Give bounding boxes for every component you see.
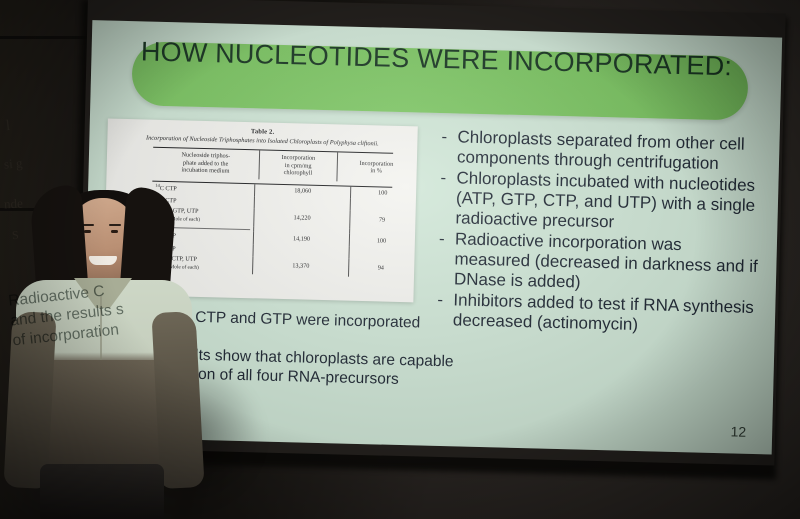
bullet-text: Inhibitors added to test if RNA synthesi… [453, 291, 760, 339]
table-header-row: Nucleoside triphos- phate added to the i… [152, 148, 415, 184]
row-value: 13,370 [253, 256, 350, 277]
arm-right [151, 311, 204, 489]
bullet-item: - Inhibitors added to test if RNA synthe… [437, 290, 760, 338]
col-header-nucleoside: Nucleoside triphos- phate added to the i… [152, 148, 259, 180]
legs [40, 464, 164, 519]
bullet-item: - Radioactive incorporation was measured… [438, 229, 761, 297]
row-value: 14,220 [254, 209, 351, 230]
row-percent: 79 [350, 211, 414, 231]
presenter: Radioactive C and the results s of incor… [14, 184, 200, 519]
slide-bullet-list: - Chloroplasts separated from other cell… [437, 127, 764, 340]
bullet-text: Radioactive incorporation was measured (… [454, 230, 761, 298]
eyebrow-right [109, 224, 121, 226]
col-header-percent: Incorporation in % [337, 152, 415, 183]
bullet-dash-icon: - [439, 168, 457, 229]
eye-left [84, 230, 91, 233]
bullet-text: Chloroplasts incubated with nucleotides … [455, 168, 762, 236]
bullet-item: - Chloroplasts separated from other cell… [441, 127, 764, 175]
row-percent: 94 [349, 258, 413, 278]
bullet-text: Chloroplasts separated from other cell c… [457, 127, 764, 175]
photo-scene: l si g nde S HOW NUCLEOTIDES WERE INCORP… [0, 0, 800, 519]
bullet-item: - Chloroplasts incubated with nucleotide… [439, 168, 762, 236]
mouth-smile [89, 256, 117, 265]
bullet-dash-icon: - [441, 127, 458, 167]
bullet-dash-icon: - [438, 229, 456, 290]
col-header-cpm: Incorporation in cpm/mg chlorophyll [259, 150, 338, 181]
slide-page-number: 12 [730, 423, 746, 439]
eye-right [111, 230, 118, 233]
table-2: Nucleoside triphos- phate added to the i… [152, 148, 415, 184]
